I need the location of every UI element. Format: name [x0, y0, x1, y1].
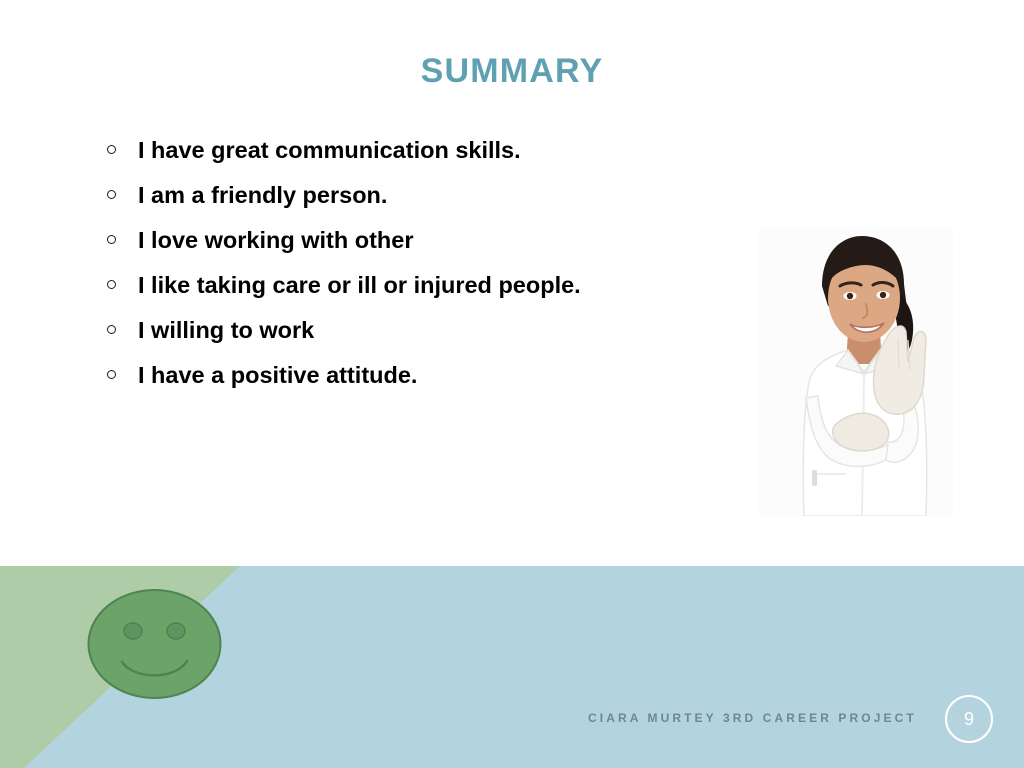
list-item-label: I have great communication skills.: [138, 137, 521, 163]
hollow-circle-bullet-icon: [107, 325, 116, 334]
list-item-label: I willing to work: [138, 317, 314, 343]
list-item: I have a positive attitude.: [100, 353, 740, 398]
presentation-slide: SUMMARY I have great communication skill…: [0, 0, 1024, 768]
hollow-circle-bullet-icon: [107, 280, 116, 289]
hollow-circle-bullet-icon: [107, 370, 116, 379]
hollow-circle-bullet-icon: [107, 190, 116, 199]
list-item: I love working with other: [100, 218, 740, 263]
hollow-circle-bullet-icon: [107, 235, 116, 244]
list-item: I willing to work: [100, 308, 740, 353]
page-number-badge: 9: [945, 695, 993, 743]
nurse-photo: [758, 228, 953, 516]
list-item-label: I am a friendly person.: [138, 182, 387, 208]
list-item: I have great communication skills.: [100, 128, 740, 173]
footer-caption: CIARA MURTEY 3RD CAREER PROJECT: [588, 711, 917, 725]
list-item-label: I like taking care or ill or injured peo…: [138, 272, 581, 298]
smiley-face-icon: [86, 588, 223, 700]
list-item-label: I love working with other: [138, 227, 414, 253]
list-item: I like taking care or ill or injured peo…: [100, 263, 740, 308]
list-item: I am a friendly person.: [100, 173, 740, 218]
hollow-circle-bullet-icon: [107, 145, 116, 154]
page-title: SUMMARY: [0, 52, 1024, 91]
summary-bullet-list: I have great communication skills. I am …: [100, 128, 740, 398]
list-item-label: I have a positive attitude.: [138, 362, 417, 388]
